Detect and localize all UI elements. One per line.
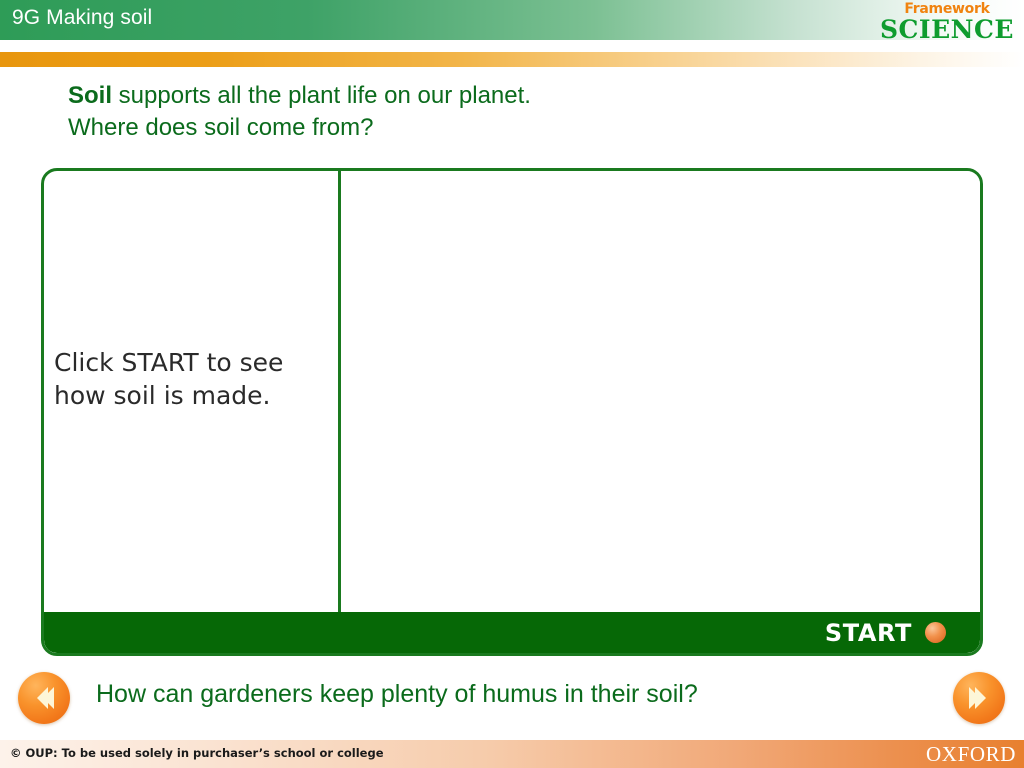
footer-bar: © OUP: To be used solely in purchaser’s … <box>0 740 1024 768</box>
previous-slide-button[interactable] <box>18 672 70 724</box>
oxford-logo: OXFORD <box>926 742 1016 767</box>
panel-caption: Click START to see how soil is made. <box>54 346 334 412</box>
start-button-icon[interactable] <box>925 622 946 643</box>
logo-science-text: SCIENCE <box>880 17 1014 42</box>
animation-panel: Click START to see how soil is made. STA… <box>41 168 983 656</box>
panel-animation-stage <box>344 171 980 615</box>
intro-line-1: Soil supports all the plant life on our … <box>68 80 928 112</box>
double-chevron-left-icon <box>18 672 70 724</box>
framework-science-logo: Framework SCIENCE <box>880 2 1014 42</box>
intro-line-2: Where does soil come from? <box>68 112 928 144</box>
footer-copyright: © OUP: To be used solely in purchaser’s … <box>10 746 384 760</box>
panel-instructions-column: Click START to see how soil is made. <box>44 171 341 615</box>
header-band <box>0 0 1024 40</box>
panel-control-bar: START <box>44 612 980 653</box>
page-title: 9G Making soil <box>12 6 152 30</box>
intro-line-1-rest: supports all the plant life on our plane… <box>112 82 531 109</box>
double-chevron-right-icon <box>953 672 1005 724</box>
start-button-label[interactable]: START <box>825 619 912 647</box>
intro-text: Soil supports all the plant life on our … <box>68 80 928 144</box>
logo-framework-text: Framework <box>880 2 1014 16</box>
next-slide-button[interactable] <box>953 672 1005 724</box>
header-orange-rule <box>0 52 1024 67</box>
intro-keyword: Soil <box>68 82 112 109</box>
question-row: How can gardeners keep plenty of humus i… <box>0 672 1024 734</box>
header-gap <box>0 40 1024 52</box>
question-text: How can gardeners keep plenty of humus i… <box>96 680 936 709</box>
